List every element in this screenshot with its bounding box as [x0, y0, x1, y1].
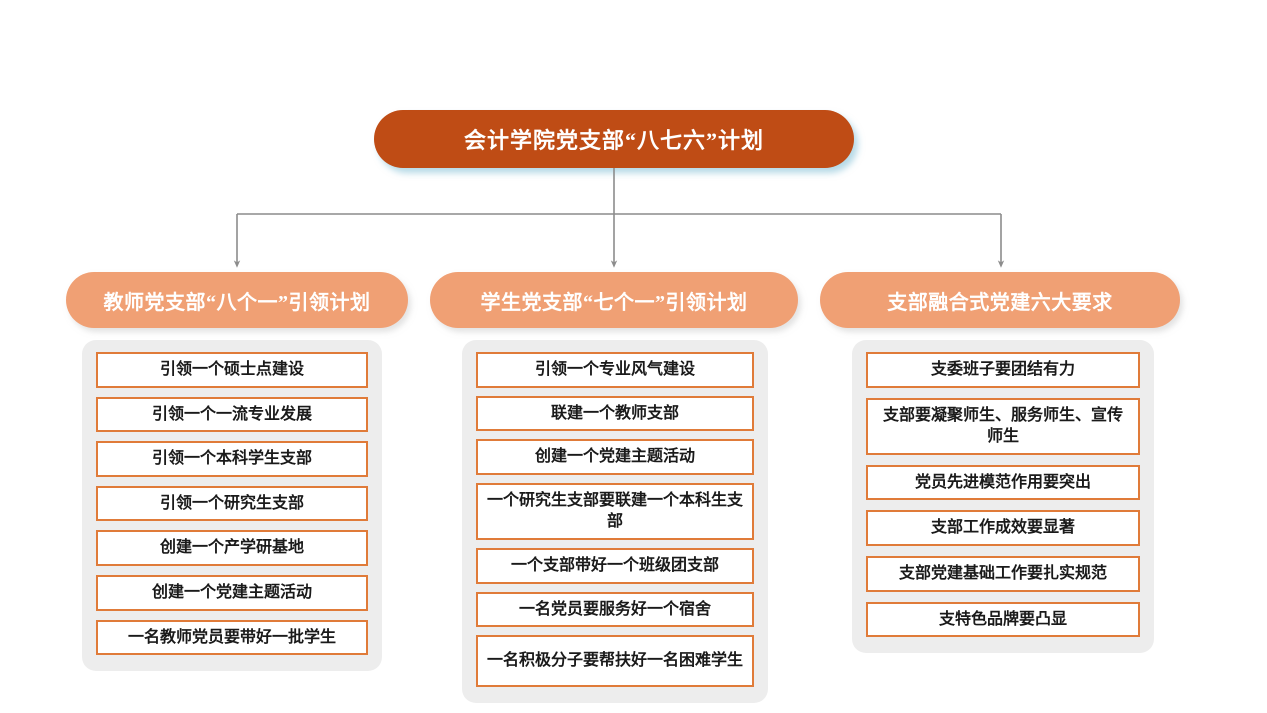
- item-label: 创建一个党建主题活动: [152, 582, 312, 604]
- item-box: 引领一个专业风气建设: [476, 352, 754, 388]
- org-chart-diagram: 会计学院党支部“八七六”计划 教师党支部“八个一”引领计划 学生党支部“七个一”…: [0, 0, 1267, 713]
- item-label: 创建一个党建主题活动: [535, 446, 695, 468]
- item-label: 联建一个教师支部: [551, 403, 679, 425]
- item-label: 一名积极分子要帮扶好一名困难学生: [487, 650, 743, 672]
- branch-header-teacher-party: 教师党支部“八个一”引领计划: [66, 272, 408, 328]
- branch-header-label: 教师党支部“八个一”引领计划: [104, 286, 371, 315]
- item-box: 创建一个产学研基地: [96, 530, 368, 566]
- item-panel-integrated-requirements: 支委班子要团结有力支部要凝聚师生、服务师生、宣传师生党员先进模范作用要突出支部工…: [852, 340, 1154, 653]
- item-label: 支部工作成效要显著: [931, 517, 1075, 539]
- item-label: 引领一个专业风气建设: [535, 359, 695, 381]
- item-box: 引领一个本科学生支部: [96, 441, 368, 477]
- item-label: 支特色品牌要凸显: [939, 609, 1067, 631]
- item-label: 引领一个研究生支部: [160, 493, 304, 515]
- item-box: 支部工作成效要显著: [866, 510, 1140, 546]
- item-box: 创建一个党建主题活动: [96, 575, 368, 611]
- branch-header-label: 支部融合式党建六大要求: [887, 286, 1113, 315]
- item-box: 支部要凝聚师生、服务师生、宣传师生: [866, 398, 1140, 455]
- item-box: 支部党建基础工作要扎实规范: [866, 556, 1140, 592]
- item-label: 引领一个本科学生支部: [152, 448, 312, 470]
- item-box: 引领一个一流专业发展: [96, 397, 368, 433]
- item-label: 一名教师党员要带好一批学生: [128, 627, 336, 649]
- item-box: 支委班子要团结有力: [866, 352, 1140, 388]
- root-node-title: 会计学院党支部“八七六”计划: [374, 110, 854, 168]
- item-label: 一个研究生支部要联建一个本科生支部: [486, 490, 744, 533]
- item-label: 支部党建基础工作要扎实规范: [899, 563, 1107, 585]
- item-label: 引领一个一流专业发展: [152, 404, 312, 426]
- item-box: 一名党员要服务好一个宿舍: [476, 592, 754, 628]
- item-label: 支部要凝聚师生、服务师生、宣传师生: [876, 405, 1130, 448]
- branch-header-integrated-requirements: 支部融合式党建六大要求: [820, 272, 1180, 328]
- branch-header-label: 学生党支部“七个一”引领计划: [481, 286, 748, 315]
- item-box: 联建一个教师支部: [476, 396, 754, 432]
- branch-header-student-party: 学生党支部“七个一”引领计划: [430, 272, 798, 328]
- item-box: 一个研究生支部要联建一个本科生支部: [476, 483, 754, 540]
- item-box: 创建一个党建主题活动: [476, 439, 754, 475]
- item-label: 创建一个产学研基地: [160, 537, 304, 559]
- item-panel-student-party: 引领一个专业风气建设联建一个教师支部创建一个党建主题活动一个研究生支部要联建一个…: [462, 340, 768, 703]
- item-label: 党员先进模范作用要突出: [915, 472, 1091, 494]
- item-box: 支特色品牌要凸显: [866, 602, 1140, 638]
- item-box: 引领一个硕士点建设: [96, 352, 368, 388]
- item-label: 支委班子要团结有力: [931, 359, 1075, 381]
- item-box: 一个支部带好一个班级团支部: [476, 548, 754, 584]
- item-box: 党员先进模范作用要突出: [866, 465, 1140, 501]
- item-label: 引领一个硕士点建设: [160, 359, 304, 381]
- root-node-label: 会计学院党支部“八七六”计划: [464, 123, 764, 155]
- item-box: 一名积极分子要帮扶好一名困难学生: [476, 635, 754, 687]
- item-label: 一名党员要服务好一个宿舍: [519, 599, 711, 621]
- item-box: 一名教师党员要带好一批学生: [96, 620, 368, 656]
- item-box: 引领一个研究生支部: [96, 486, 368, 522]
- item-panel-teacher-party: 引领一个硕士点建设引领一个一流专业发展引领一个本科学生支部引领一个研究生支部创建…: [82, 340, 382, 671]
- item-label: 一个支部带好一个班级团支部: [511, 555, 719, 577]
